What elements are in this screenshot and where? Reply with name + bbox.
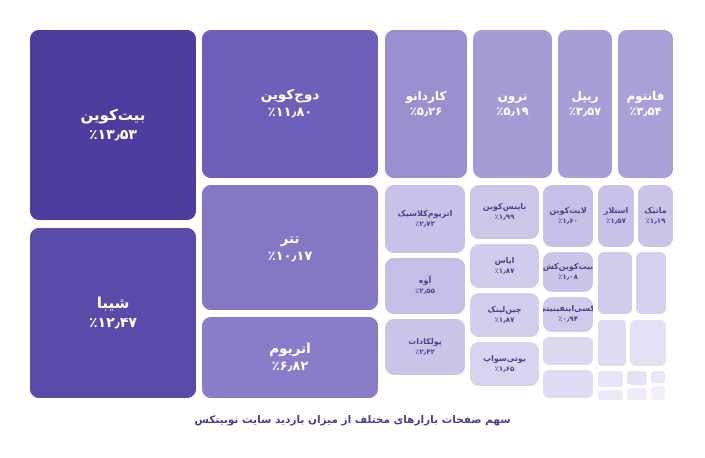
treemap-tile-label: بیت‌کوین‌کش — [543, 262, 593, 273]
treemap-tile-label: کاردانو — [406, 88, 447, 104]
treemap-tile-unlabeled[interactable] — [651, 386, 665, 400]
treemap-tile-percent: ٪۰٫۹۴ — [558, 315, 578, 324]
treemap-tile-label: اتریوم — [269, 340, 311, 358]
treemap-tile-percent: ٪۱٫۸۷ — [495, 267, 515, 276]
treemap-tile-label: ایاس — [495, 256, 515, 267]
treemap-tile-label: بیت‌کوین — [81, 105, 146, 125]
treemap-tile-percent: ٪۵٫۲۶ — [410, 104, 442, 120]
treemap-tile-label: ترون — [498, 88, 528, 104]
treemap-tile-unlabeled[interactable] — [627, 371, 647, 385]
treemap-tile[interactable]: اتریوم‌کلاسیک٪۲٫۷۳ — [385, 185, 465, 253]
treemap-tile-label: تتر — [281, 230, 300, 248]
treemap-tile-label: ریپل — [571, 88, 598, 104]
treemap-tile[interactable]: آوه٪۲٫۵۵ — [385, 258, 465, 314]
treemap-tile[interactable]: ایاس٪۱٫۸۷ — [470, 244, 539, 288]
treemap-tile[interactable]: لایت‌کوین٪۱٫۶۰ — [543, 185, 593, 247]
treemap-tile-percent: ٪۱٫۹۹ — [495, 213, 515, 222]
treemap-tile[interactable]: اتریوم٪۶٫۸۲ — [202, 317, 378, 398]
treemap-tile-label: لایت‌کوین — [549, 206, 586, 217]
treemap-tile-label: اکسی‌اینفینیتی — [543, 304, 593, 315]
treemap-tile[interactable]: ماتیک٪۱٫۱۹ — [638, 185, 673, 247]
treemap-tile-percent: ٪۱٫۸۷ — [495, 316, 515, 325]
treemap-tile-unlabeled[interactable] — [543, 337, 593, 365]
treemap-tile-percent: ٪۱٫۱۹ — [646, 217, 666, 226]
treemap-tile-label: استلار — [604, 206, 629, 217]
treemap-tile-label: باینس‌کوین — [483, 202, 526, 213]
treemap-tile[interactable]: باینس‌کوین٪۱٫۹۹ — [470, 185, 539, 239]
treemap-tile[interactable]: دوج‌کوین٪۱۱٫۸۰ — [202, 30, 378, 178]
treemap-tile-unlabeled[interactable] — [630, 320, 666, 366]
treemap-tile[interactable]: پولکادات٪۲٫۴۲ — [385, 319, 465, 375]
treemap-chart: بیت‌کوین٪۱۳٫۵۳شیبا٪۱۲٫۴۷دوج‌کوین٪۱۱٫۸۰تت… — [0, 0, 705, 400]
treemap-tile-unlabeled[interactable] — [651, 371, 665, 383]
treemap-tile-unlabeled[interactable] — [598, 390, 623, 400]
treemap-tile-label: پولکادات — [408, 337, 442, 348]
treemap-tile-percent: ٪۵٫۱۹ — [496, 104, 528, 120]
treemap-tile-percent: ٪۱٫۶۰ — [558, 217, 578, 226]
treemap-tile-label: یوتی‌سواپ — [483, 354, 526, 365]
treemap-tile-percent: ٪۲٫۵۵ — [415, 287, 435, 296]
treemap-tile[interactable]: شیبا٪۱۲٫۴۷ — [30, 228, 196, 398]
treemap-tile-unlabeled[interactable] — [543, 370, 593, 398]
treemap-tile-percent: ٪۱۱٫۸۰ — [268, 104, 313, 122]
treemap-tile-label: شیبا — [97, 293, 130, 313]
treemap-tile-percent: ٪۳٫۵۴ — [629, 104, 661, 120]
chart-caption: سهم صفحات بازارهای مختلف از میزان بازدید… — [0, 414, 705, 426]
treemap-tile-percent: ٪۱٫۶۵ — [495, 365, 515, 374]
treemap-tile[interactable]: استلار٪۱٫۵۷ — [598, 185, 634, 247]
treemap-tile-label: اتریوم‌کلاسیک — [398, 209, 453, 220]
treemap-tile-percent: ٪۱۳٫۵۳ — [89, 126, 137, 145]
treemap-tile-percent: ٪۱۲٫۴۷ — [89, 314, 137, 333]
treemap-tile[interactable]: تتر٪۱۰٫۱۷ — [202, 185, 378, 310]
treemap-tile-percent: ٪۳٫۵۷ — [569, 104, 601, 120]
treemap-tile-label: دوج‌کوین — [261, 86, 320, 104]
treemap-tile[interactable]: ریپل٪۳٫۵۷ — [558, 30, 612, 178]
treemap-tile-percent: ٪۶٫۸۲ — [272, 358, 309, 376]
treemap-tile-unlabeled[interactable] — [598, 252, 632, 314]
treemap-tile[interactable]: بیت‌کوین٪۱۳٫۵۳ — [30, 30, 196, 220]
treemap-tile-percent: ٪۲٫۴۲ — [415, 348, 435, 357]
treemap-tile[interactable]: اکسی‌اینفینیتی٪۰٫۹۴ — [543, 297, 593, 332]
treemap-tile-label: فانتوم — [626, 88, 664, 104]
treemap-tile[interactable]: چین‌لینک٪۱٫۸۷ — [470, 293, 539, 337]
treemap-tile-label: آوه — [419, 276, 431, 287]
treemap-tile[interactable]: کاردانو٪۵٫۲۶ — [385, 30, 467, 178]
treemap-tile[interactable]: فانتوم٪۳٫۵۴ — [618, 30, 673, 178]
treemap-tile[interactable]: ترون٪۵٫۱۹ — [473, 30, 552, 178]
treemap-tile-unlabeled[interactable] — [636, 252, 666, 314]
treemap-tile-unlabeled[interactable] — [598, 371, 623, 387]
treemap-tile[interactable]: بیت‌کوین‌کش٪۱٫۰۸ — [543, 252, 593, 292]
treemap-tile-unlabeled[interactable] — [627, 388, 647, 400]
treemap-tile-percent: ٪۱٫۵۷ — [606, 217, 626, 226]
treemap-tile[interactable]: یوتی‌سواپ٪۱٫۶۵ — [470, 342, 539, 386]
treemap-tile-label: ماتیک — [644, 206, 666, 217]
treemap-tile-percent: ٪۲٫۷۳ — [415, 220, 435, 229]
treemap-tile-percent: ٪۱۰٫۱۷ — [268, 248, 313, 266]
treemap-tile-unlabeled[interactable] — [598, 320, 626, 366]
treemap-tile-percent: ٪۱٫۰۸ — [558, 273, 578, 282]
treemap-tile-label: چین‌لینک — [488, 305, 522, 316]
